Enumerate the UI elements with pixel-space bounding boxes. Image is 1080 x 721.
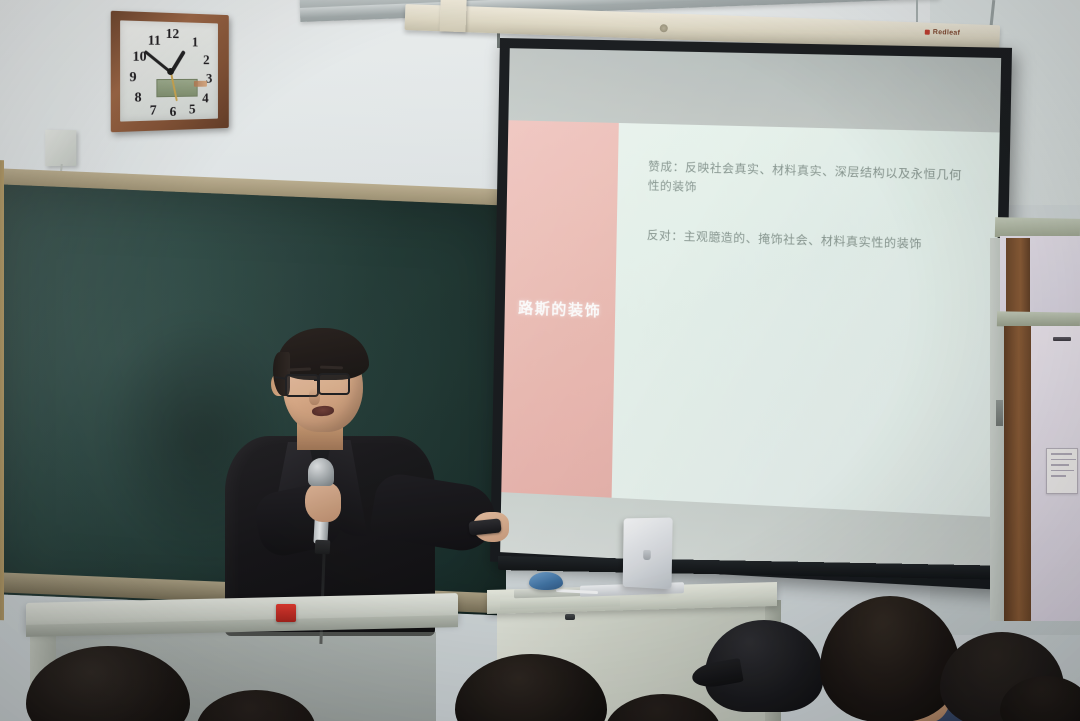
clock-pendulum-window bbox=[157, 79, 198, 97]
laptop-logo-icon bbox=[643, 550, 651, 560]
projector-screen: 路斯的装饰 赞成：反映社会真实、材料真实、深层结构以及永恒几何性的装饰 反对：主… bbox=[490, 38, 1012, 590]
screen-unlit-top-band bbox=[508, 48, 1001, 132]
clock-numeral-7: 7 bbox=[150, 105, 157, 119]
clock-brand-mark bbox=[194, 81, 207, 87]
clock-numeral-5: 5 bbox=[189, 104, 196, 118]
wall-notice-paper bbox=[1046, 448, 1078, 494]
presenter-hand-left bbox=[305, 482, 341, 522]
screen-brand-logo: Redleaf bbox=[925, 29, 961, 37]
presenter-nose bbox=[309, 388, 320, 405]
clock-numeral-3: 3 bbox=[206, 73, 212, 87]
projection-surface: 路斯的装饰 赞成：反映社会真实、材料真实、深层结构以及永恒几何性的装饰 反对：主… bbox=[500, 48, 1001, 579]
clock-numeral-12: 12 bbox=[166, 28, 180, 42]
clock-numeral-8: 8 bbox=[135, 91, 142, 105]
presentation-slide: 路斯的装饰 赞成：反映社会真实、材料真实、深层结构以及永恒几何性的装饰 反对：主… bbox=[501, 120, 999, 517]
slide-title: 路斯的装饰 bbox=[518, 296, 602, 320]
door-handle[interactable] bbox=[1053, 337, 1071, 341]
glasses-lens-right bbox=[318, 373, 350, 395]
door-jamb-lower[interactable] bbox=[1004, 326, 1031, 621]
glasses-bridge bbox=[314, 379, 320, 381]
clock-numeral-2: 2 bbox=[203, 55, 209, 69]
screen-mount-bracket bbox=[440, 0, 467, 32]
podium-lock[interactable] bbox=[565, 614, 575, 620]
clock-numeral-9: 9 bbox=[129, 71, 136, 85]
light-hanger-rod-secondary bbox=[916, 0, 918, 22]
clock-face: 12 1 2 3 4 5 6 7 8 9 10 11 bbox=[120, 20, 218, 121]
notice-text-line bbox=[1051, 475, 1066, 477]
slide-body: 赞成：反映社会真实、材料真实、深层结构以及永恒几何性的装饰 反对：主观臆造的、掩… bbox=[611, 123, 999, 517]
notice-text-line bbox=[1051, 453, 1072, 455]
clock-center-pin bbox=[167, 67, 174, 74]
notice-text-line bbox=[1051, 470, 1074, 472]
laptop[interactable] bbox=[623, 518, 673, 590]
screen-housing-screw bbox=[660, 24, 668, 32]
blackboard-left-edge bbox=[0, 160, 4, 621]
clock-numeral-4: 4 bbox=[202, 92, 208, 106]
microphone-head bbox=[308, 458, 334, 486]
red-cup[interactable] bbox=[276, 604, 296, 622]
wall-clock: 12 1 2 3 4 5 6 7 8 9 10 11 bbox=[111, 11, 229, 133]
notice-text-line bbox=[1051, 459, 1076, 461]
slide-line-pro: 赞成：反映社会真实、材料真实、深层结构以及永恒几何性的装饰 bbox=[648, 158, 972, 206]
computer-mouse[interactable] bbox=[529, 572, 563, 590]
clock-numeral-1: 1 bbox=[192, 36, 199, 50]
brand-dot-icon bbox=[925, 30, 930, 35]
slide-accent-panel: 路斯的装饰 bbox=[501, 120, 618, 497]
microphone-base bbox=[315, 540, 331, 555]
classroom-photo-scene: 12 1 2 3 4 5 6 7 8 9 10 11 bbox=[0, 0, 1080, 721]
notice-text-line bbox=[1051, 464, 1069, 466]
wall-speaker-box bbox=[45, 130, 76, 166]
slide-line-con: 反对：主观臆造的、掩饰社会、材料真实性的装饰 bbox=[647, 227, 970, 257]
brand-name: Redleaf bbox=[933, 29, 961, 37]
presenter bbox=[205, 330, 505, 630]
clock-numeral-11: 11 bbox=[148, 34, 161, 48]
door-latch-plate bbox=[996, 400, 1003, 426]
clock-numeral-6: 6 bbox=[170, 106, 177, 120]
door-jamb-upper bbox=[1006, 238, 1030, 313]
